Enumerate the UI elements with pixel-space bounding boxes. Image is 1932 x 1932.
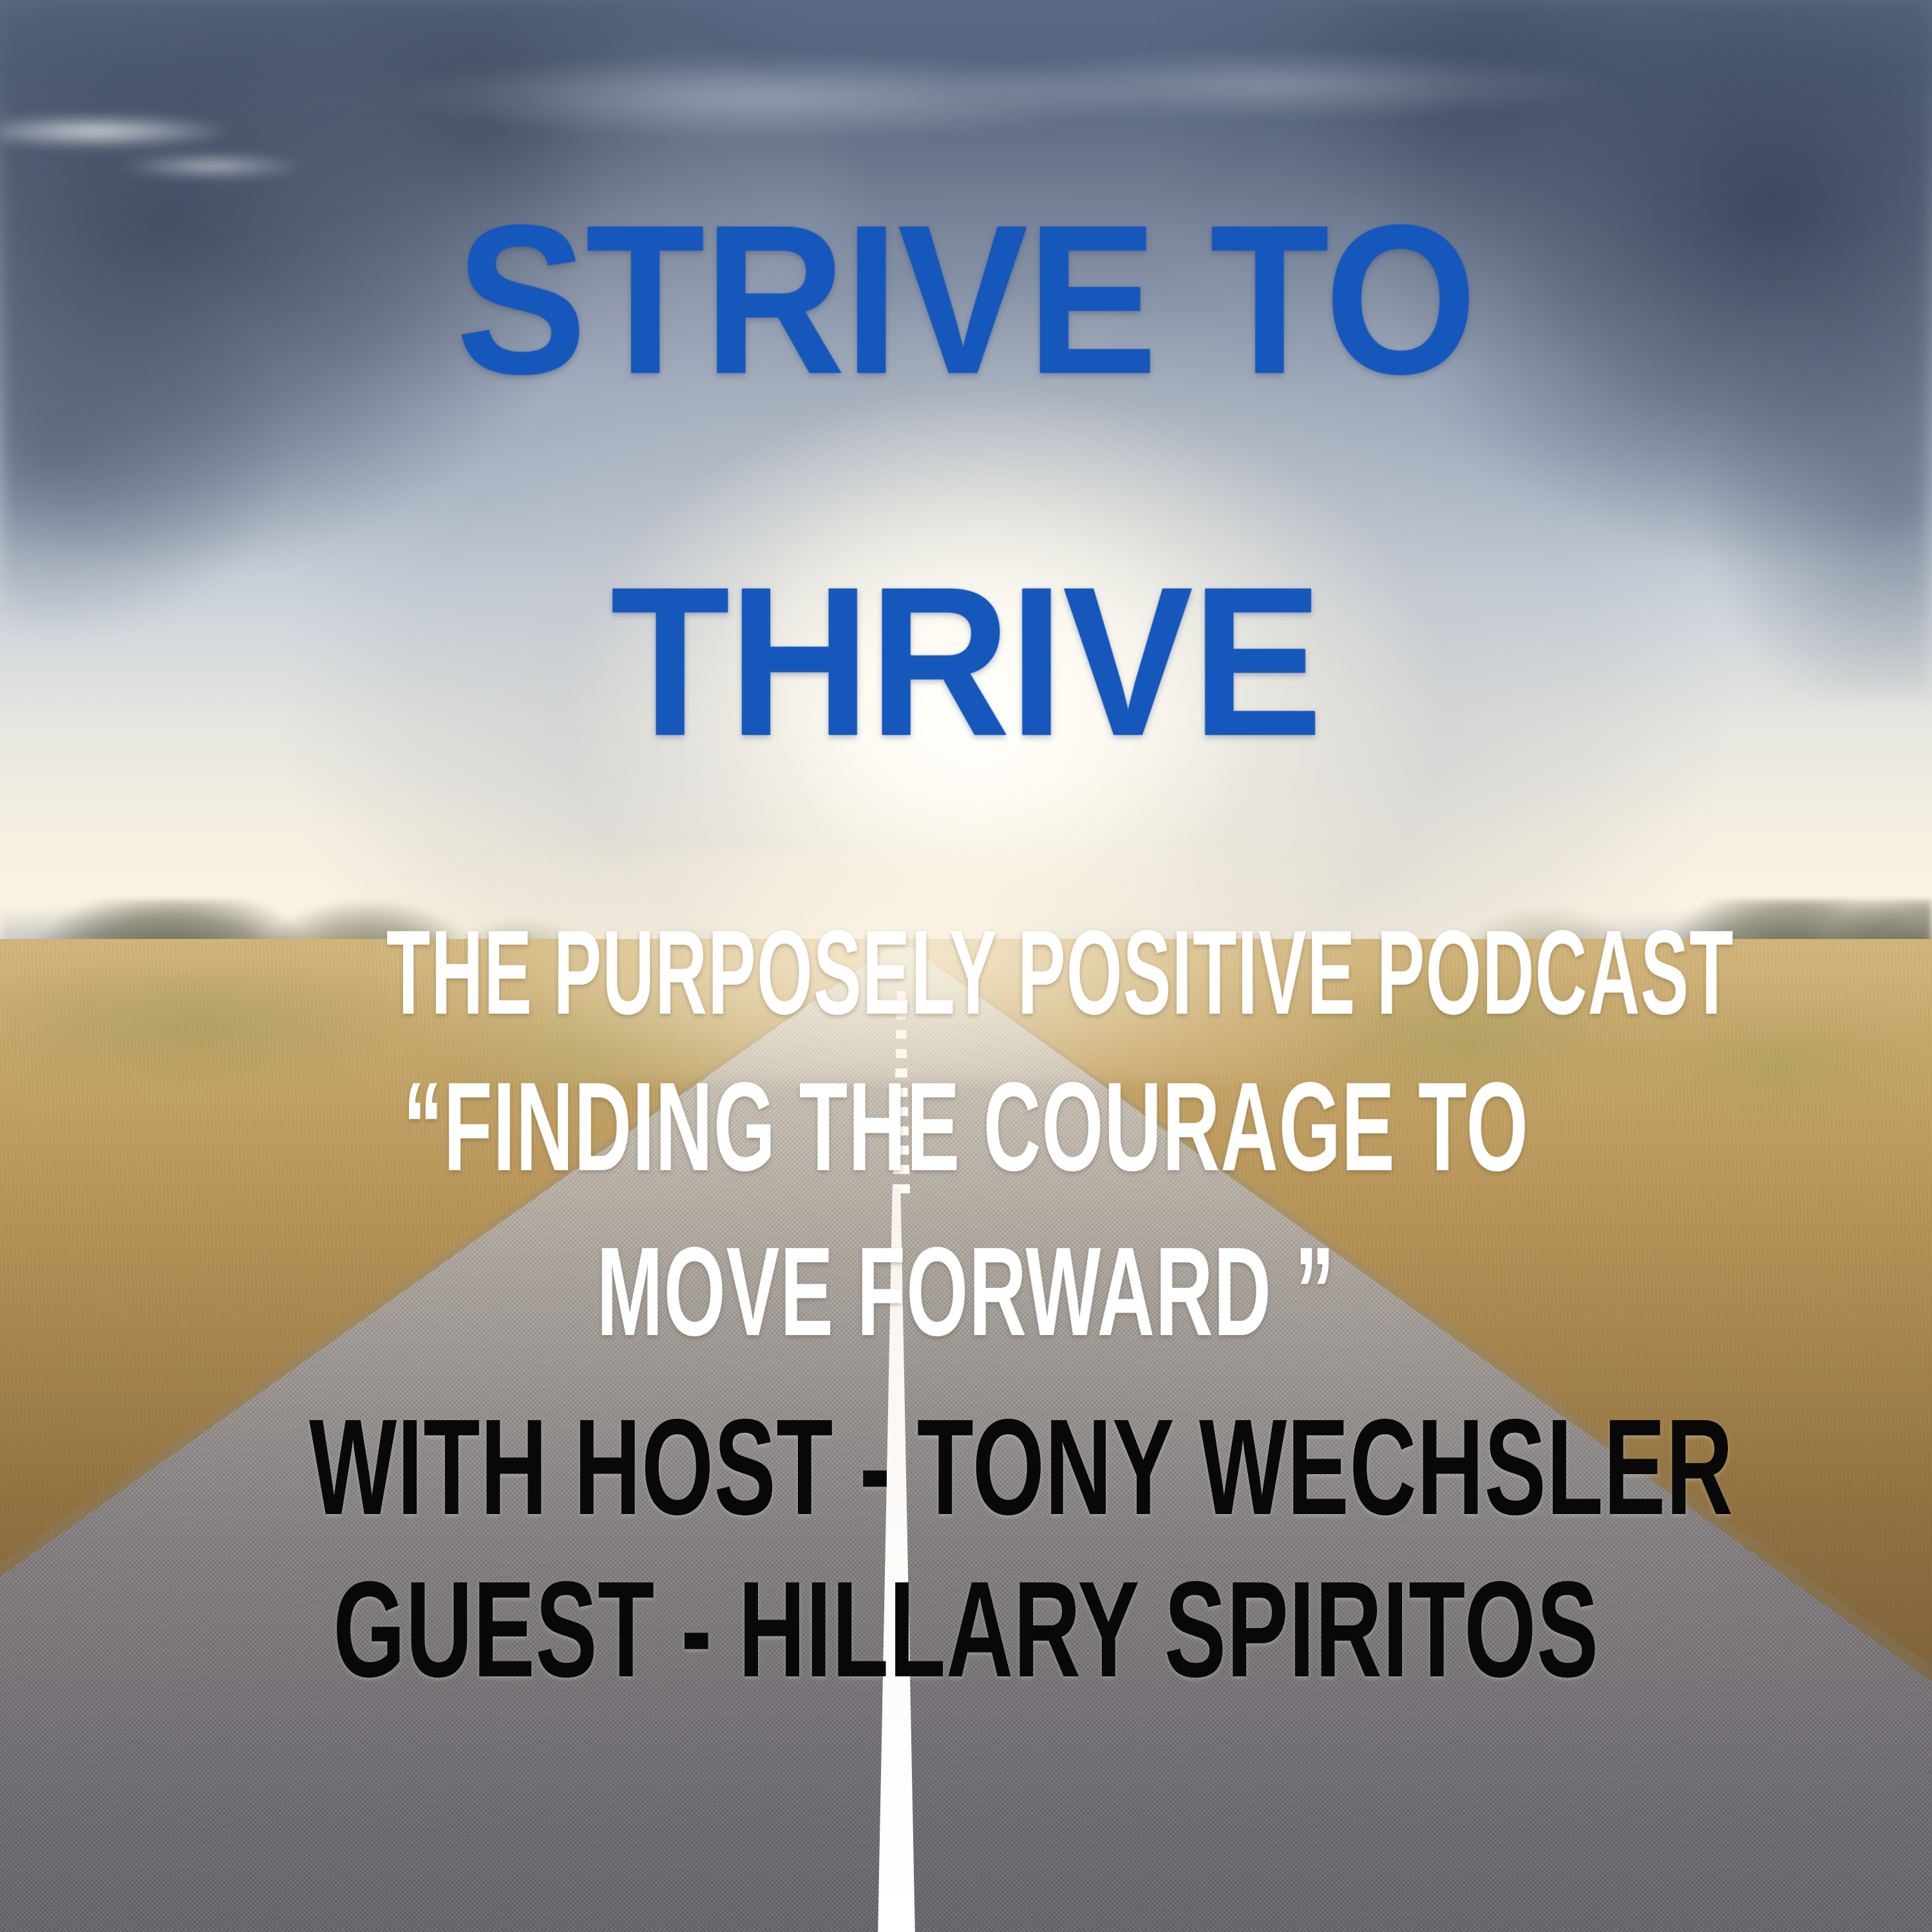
cover-text-layer: STRIVE TO THRIVE THE PURPOSELY POSITIVE …	[0, 0, 1932, 1932]
podcast-title-line-2: THRIVE	[77, 555, 1855, 768]
episode-title-line-1: “FINDING THE COURAGE TO	[357, 1064, 1575, 1190]
podcast-tagline: THE PURPOSELY POSITIVE PODCAST	[386, 913, 1546, 1033]
podcast-title-line-1: STRIVE TO	[77, 193, 1855, 406]
host-credit: WITH HOST - TONY WECHSLER	[309, 1399, 1623, 1535]
guest-credit: GUEST - HILLARY SPIRITOS	[309, 1561, 1623, 1698]
podcast-cover-art: STRIVE TO THRIVE THE PURPOSELY POSITIVE …	[0, 0, 1932, 1932]
episode-title-line-2: MOVE FORWARD ”	[357, 1229, 1575, 1355]
